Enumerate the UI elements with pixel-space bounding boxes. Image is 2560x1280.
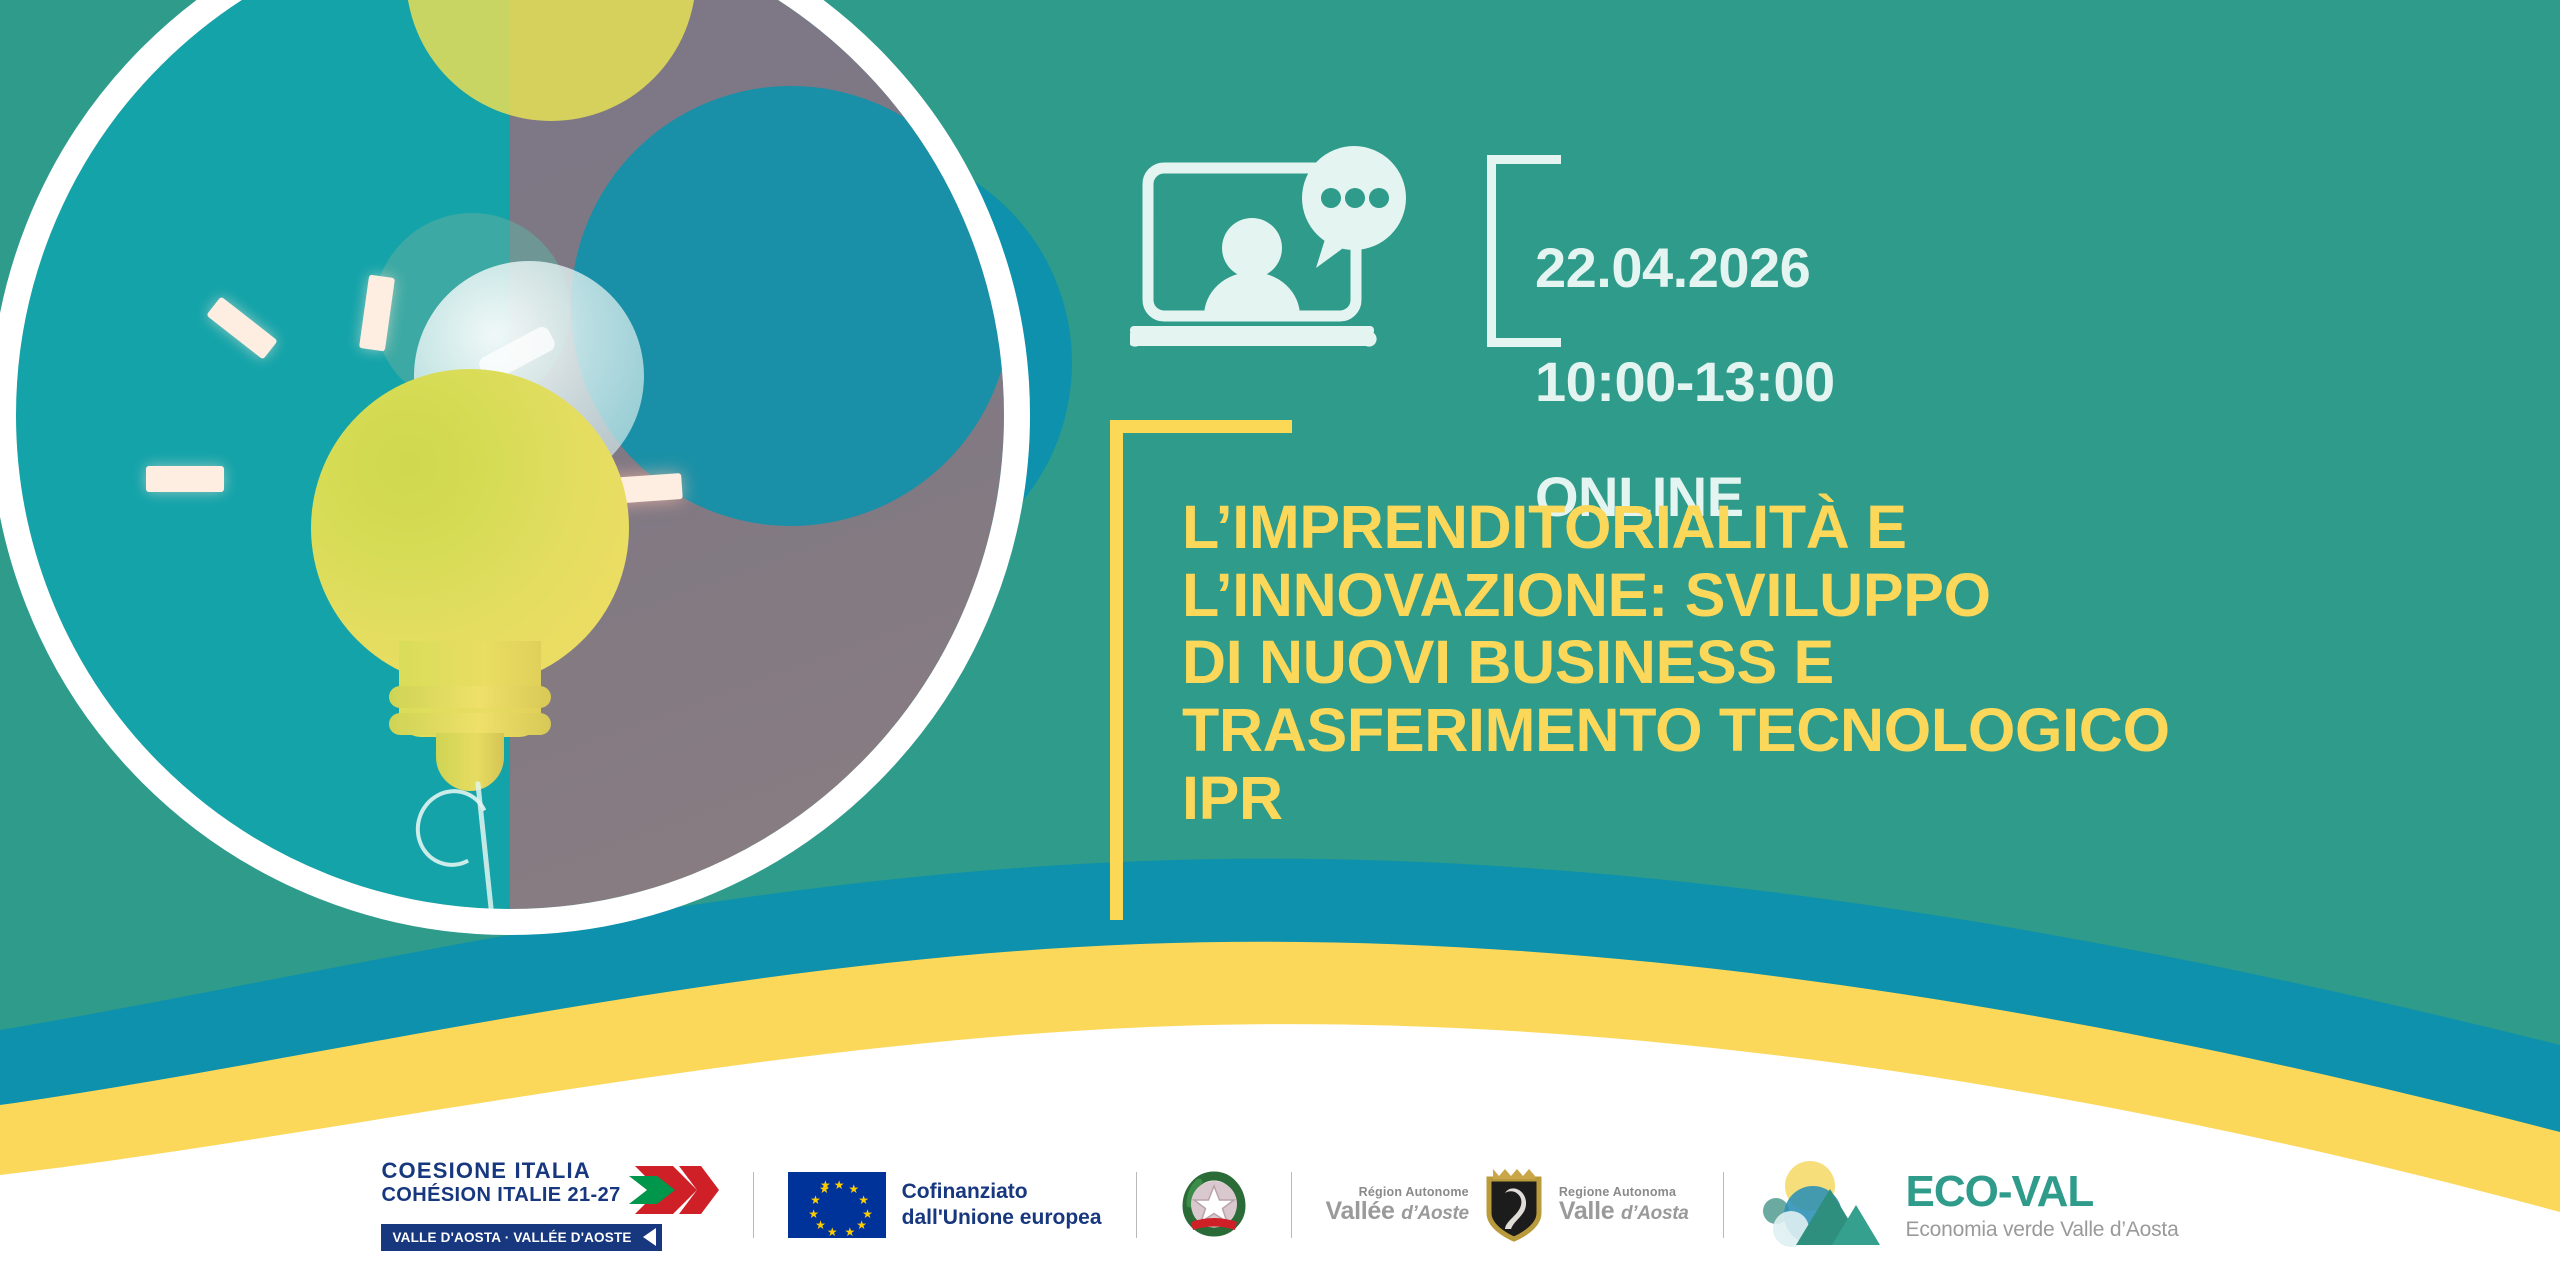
footer-divider-2 bbox=[1136, 1172, 1137, 1238]
eco-val-mark-icon bbox=[1758, 1159, 1886, 1251]
footer-logo-bar: COESIONE ITALIA COHÉSION ITALIE 21-27 VA… bbox=[0, 1130, 2560, 1280]
logo-repubblica-italiana bbox=[1171, 1150, 1257, 1260]
regione-fr-big-b: d’Aoste bbox=[1401, 1203, 1469, 1224]
coesione-region-badge: VALLE D'AOSTA · VALLÉE D'AOSTE bbox=[381, 1224, 661, 1251]
title-line-1: L’IMPRENDITORIALITÀ E bbox=[1182, 494, 2472, 562]
eco-val-tagline: Economia verde Valle d’Aosta bbox=[1906, 1219, 2179, 1240]
title-line-4: TRASFERIMENTO TECNOLOGICO bbox=[1182, 697, 2472, 765]
title-line-5: IPR bbox=[1182, 765, 2472, 833]
title-line-2: L’INNOVAZIONE: SVILUPPO bbox=[1182, 562, 2472, 630]
logo-eco-val: ECO-VAL Economia verde Valle d’Aosta bbox=[1758, 1150, 2179, 1260]
eco-val-wordmark: ECO-VAL bbox=[1906, 1170, 2179, 1214]
coesione-badge-text: VALLE D'AOSTA · VALLÉE D'AOSTE bbox=[392, 1230, 631, 1245]
event-date: 22.04.2026 bbox=[1535, 239, 1835, 296]
regione-fr-big-a: Vallée bbox=[1326, 1197, 1402, 1225]
coesione-line-2: COHÉSION ITALIE 21-27 bbox=[381, 1185, 620, 1205]
emblem-of-italy-icon bbox=[1171, 1162, 1257, 1248]
badge-arrow-icon bbox=[643, 1228, 656, 1246]
italy-chevron-icon bbox=[627, 1162, 719, 1218]
regione-it-big-a: Valle bbox=[1559, 1197, 1621, 1225]
logo-coesione-italia: COESIONE ITALIA COHÉSION ITALIE 21-27 VA… bbox=[381, 1150, 718, 1260]
footer-divider-4 bbox=[1723, 1172, 1724, 1238]
footer-divider-1 bbox=[753, 1172, 754, 1238]
regione-it-big-b: d’Aosta bbox=[1621, 1203, 1689, 1224]
lightbulb-photo-medallion bbox=[0, 0, 1030, 935]
page-title: L’IMPRENDITORIALITÀ E L’INNOVAZIONE: SVI… bbox=[1182, 494, 2472, 833]
eu-line-2: dall'Unione europea bbox=[902, 1206, 1102, 1229]
logo-cofinanziato-ue: ★ ★ ★ ★ ★ ★ ★ ★ ★ ★ ★ ★ Cofinanziato dal… bbox=[788, 1150, 1102, 1260]
valle-aosta-coat-of-arms-icon bbox=[1483, 1167, 1545, 1243]
title-line-3: DI NUOVI BUSINESS E bbox=[1182, 629, 2472, 697]
logo-regione-valle-aosta: Région Autonome Vallée d’Aoste Regione A… bbox=[1326, 1150, 1689, 1260]
footer-divider-3 bbox=[1291, 1172, 1292, 1238]
eu-flag-icon: ★ ★ ★ ★ ★ ★ ★ ★ ★ ★ ★ ★ bbox=[788, 1172, 886, 1238]
coesione-line-1: COESIONE ITALIA bbox=[381, 1160, 620, 1182]
event-time: 10:00-13:00 bbox=[1535, 353, 1835, 410]
eu-line-1: Cofinanziato bbox=[902, 1180, 1028, 1203]
laptop-webinar-icon bbox=[1130, 140, 1470, 380]
event-poster: 22.04.2026 10:00-13:00 ONLINE L’IMPRENDI… bbox=[0, 0, 2560, 1280]
